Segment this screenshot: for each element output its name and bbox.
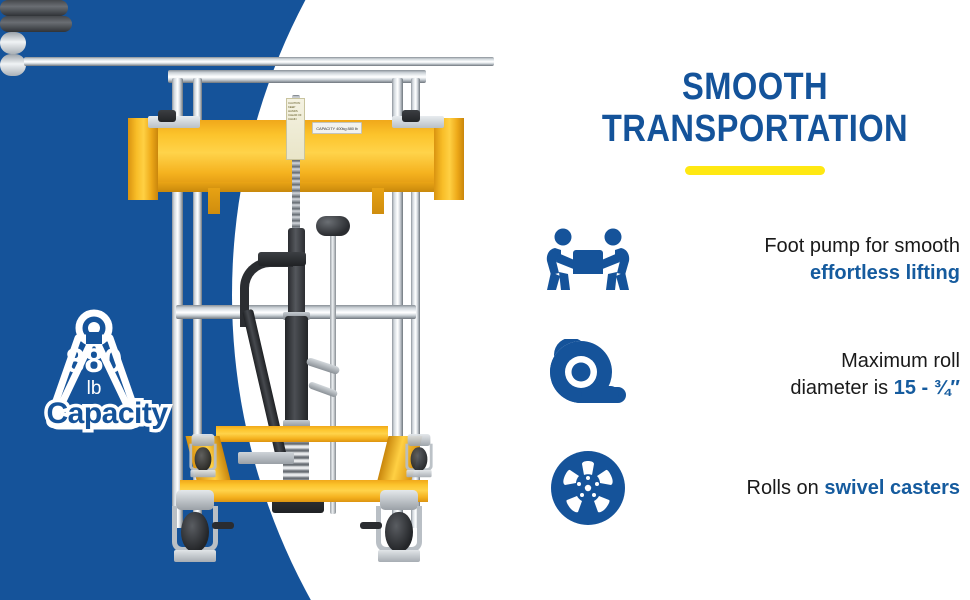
caster-front-left [168,490,222,570]
frame-joint-left [0,32,26,54]
page-title: SMOOTH TRANSPORTATION [570,66,940,150]
caster-front-right [372,490,426,570]
paper-roll-icon [540,330,636,420]
feature-text-lifting: Foot pump for smooth effortless lifting [636,233,970,287]
handle-grip-right [0,16,72,32]
foot-pump-grip [258,252,306,266]
feature-row-lifting: Foot pump for smooth effortless lifting [540,215,970,305]
feature-2-plain-1: Maximum roll [841,350,960,372]
title-underline-accent [685,166,825,175]
product-capacity-sticker: CAPACITY 400kg 880 lb [312,122,362,134]
fork-tab-left [208,188,220,214]
capacity-label: Capacity [28,397,186,431]
feature-text-roll-diameter: Maximum roll diameter is 15 - ¾″ [636,348,970,402]
fork-tab-right [372,188,384,214]
base-foot-plate [238,452,294,464]
feature-3-plain: Rolls on [747,477,825,499]
warning-decal: CAUTION KEEP HANDS CLEAR OF CHAIN [286,98,305,160]
feature-3-bold: swivel casters [824,477,960,499]
swivel-caster-wheel-icon [540,443,636,533]
two-people-carrying-box-icon [540,215,636,305]
feature-1-plain: Foot pump for smooth [764,235,960,257]
fork-arm-left [128,118,158,200]
feature-row-roll-diameter: Maximum roll diameter is 15 - ¾″ [540,330,970,420]
feature-2-plain-2: diameter is [790,377,893,399]
fork-lock-knob-right [402,110,420,122]
feature-text-casters: Rolls on swivel casters [636,475,970,502]
caster-rear-right [403,434,435,482]
base-frame-upper [216,426,388,442]
frame-joint-right [0,54,26,76]
capacity-badge: 880 lb Capacity [34,302,184,452]
caster-rear-left [187,434,219,482]
release-rod-knob [316,216,350,236]
feature-row-casters: Rolls on swivel casters [540,443,970,533]
info-panel: SMOOTH TRANSPORTATION [540,0,970,600]
headline-line-2: TRANSPORTATION [570,108,940,150]
frame-top-crossbar [168,70,426,83]
headline-line-1: SMOOTH [570,66,940,108]
fork-lock-knob-left [158,110,176,122]
product-image-lift-cart: CAPACITY 400kg 880 lb CAUTION KEEP HANDS… [0,0,520,600]
feature-2-bold: 15 - ¾″ [894,377,960,399]
handle-bar [24,57,494,66]
fork-arm-right [434,118,464,200]
handle-grip-left [0,0,68,16]
feature-1-bold: effortless lifting [810,262,960,284]
capacity-value: 880 [34,342,154,381]
infographic-canvas: CAPACITY 400kg 880 lb CAUTION KEEP HANDS… [0,0,970,600]
